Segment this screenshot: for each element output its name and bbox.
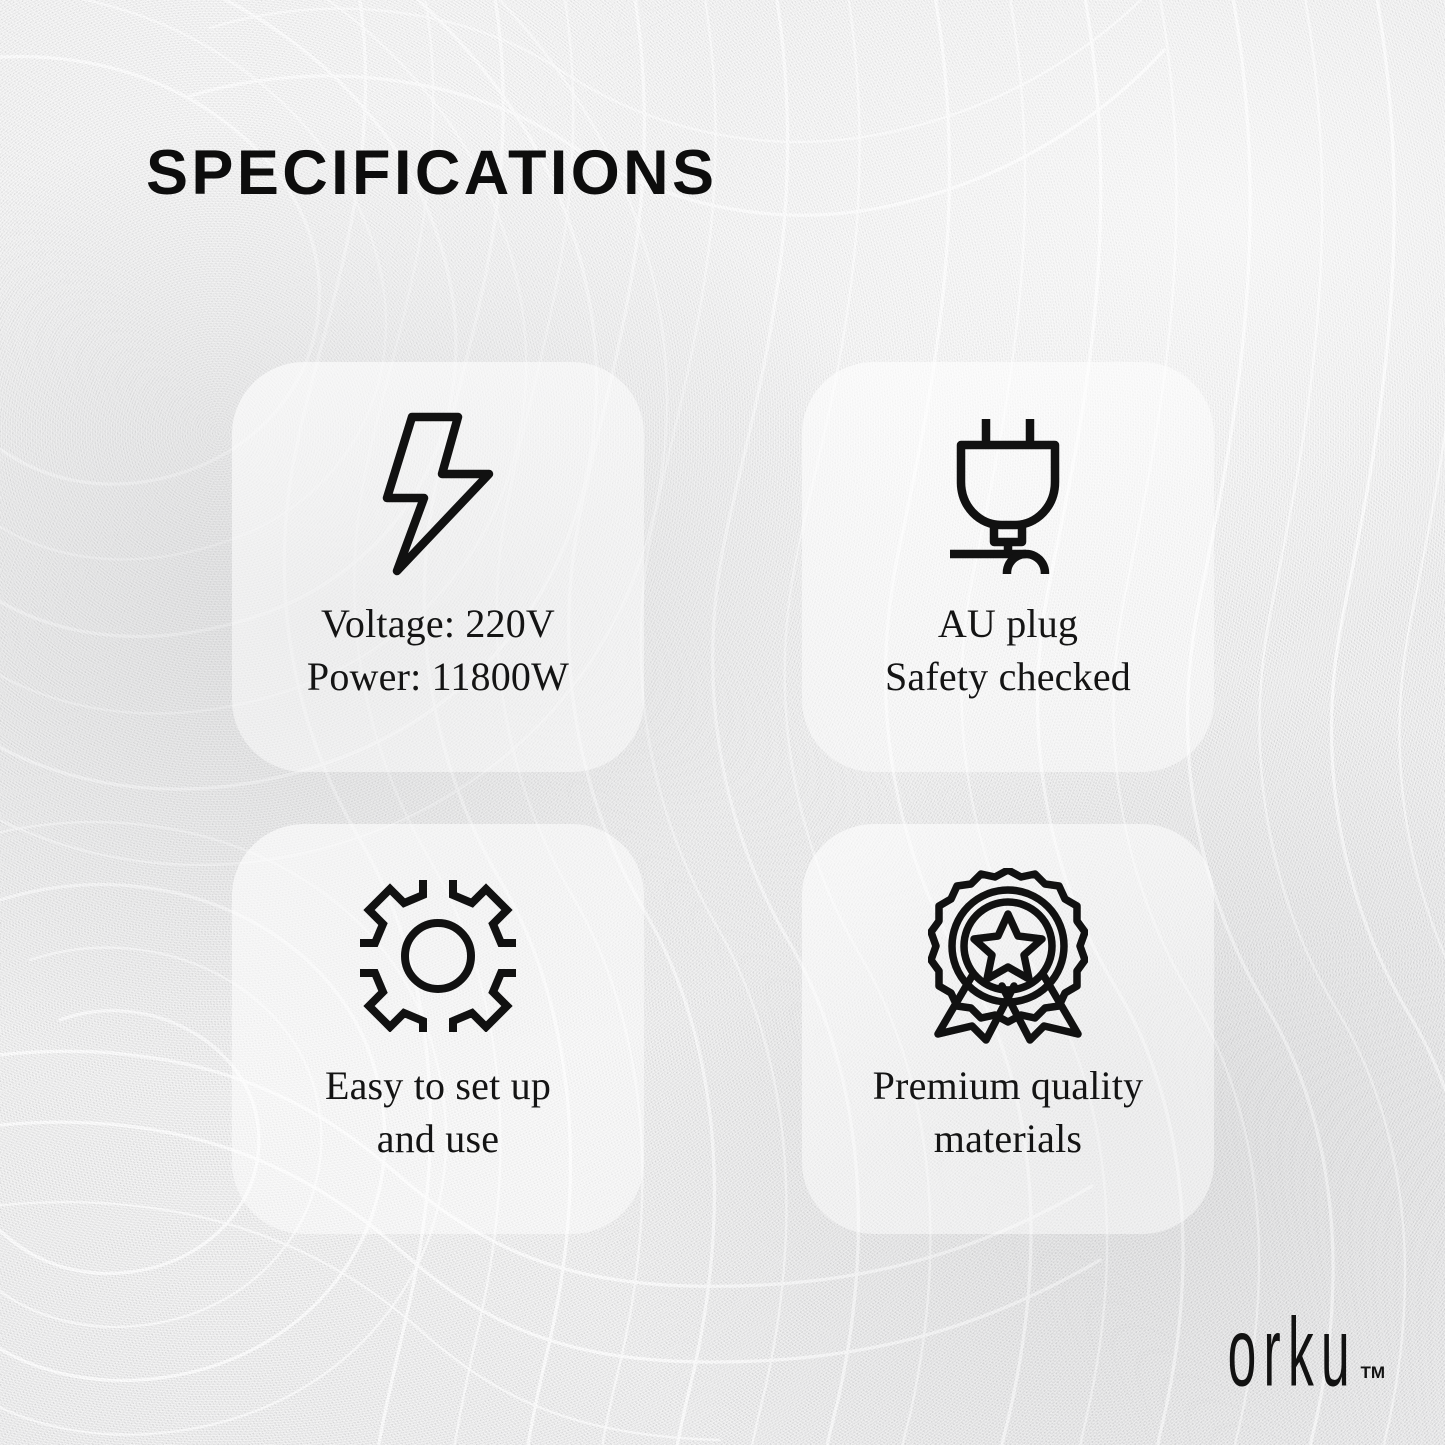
- spec-line: Easy to set up: [325, 1060, 551, 1113]
- spec-line: Voltage: 220V: [307, 598, 569, 651]
- brand-name: orku: [1228, 1313, 1357, 1393]
- spec-card-text: Premium quality materials: [873, 1060, 1144, 1166]
- spec-line: materials: [873, 1113, 1144, 1166]
- specifications-poster: SPECIFICATIONS Voltage: 220V Power: 1180…: [0, 0, 1445, 1445]
- brand-logo: orku TM: [1126, 1318, 1385, 1393]
- spec-card-voltage-power: Voltage: 220V Power: 11800W: [232, 362, 644, 772]
- trademark-symbol: TM: [1360, 1363, 1385, 1383]
- spec-card-easy-setup: Easy to set up and use: [232, 824, 644, 1234]
- spec-card-premium-quality: Premium quality materials: [802, 824, 1214, 1234]
- spec-line: AU plug: [885, 598, 1131, 651]
- spec-line: Safety checked: [885, 651, 1131, 704]
- power-plug-icon: [944, 396, 1072, 592]
- spec-line: and use: [325, 1113, 551, 1166]
- spec-card-text: Voltage: 220V Power: 11800W: [307, 598, 569, 704]
- spec-line: Premium quality: [873, 1060, 1144, 1113]
- award-ribbon-icon: [928, 858, 1088, 1054]
- lightning-bolt-icon: [380, 396, 496, 592]
- spec-card-text: Easy to set up and use: [325, 1060, 551, 1166]
- gear-icon: [360, 858, 516, 1054]
- spec-card-au-plug: AU plug Safety checked: [802, 362, 1214, 772]
- specifications-grid: Voltage: 220V Power: 11800W AU plug S: [232, 362, 1214, 1234]
- page-title: SPECIFICATIONS: [146, 142, 717, 205]
- spec-line: Power: 11800W: [307, 651, 569, 704]
- spec-card-text: AU plug Safety checked: [885, 598, 1131, 704]
